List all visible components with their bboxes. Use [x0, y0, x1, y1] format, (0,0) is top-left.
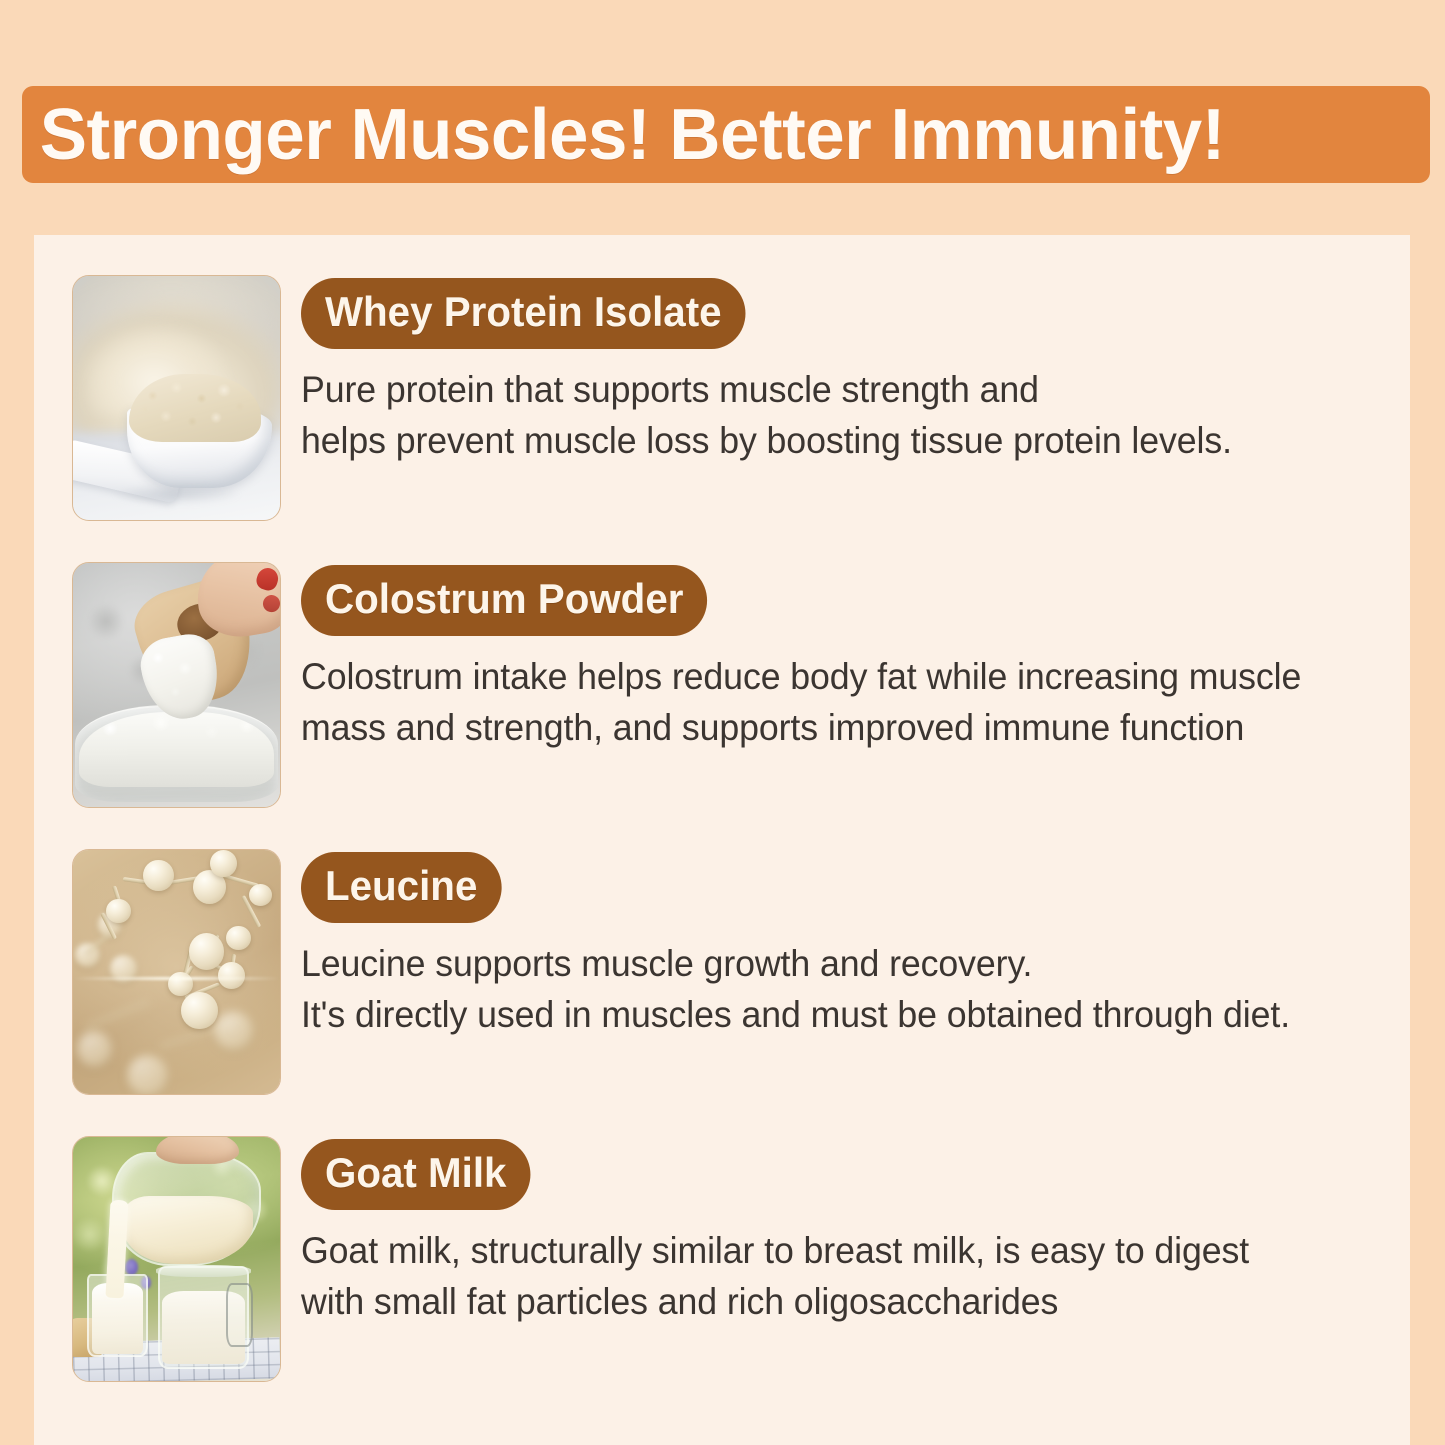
ingredient-title-pill: Leucine [301, 852, 501, 923]
molecule-atom [127, 1055, 168, 1094]
whey-protein-powder-scoop-photo [73, 276, 280, 520]
hand [156, 1137, 239, 1164]
thumbnail-goat-milk [72, 1136, 281, 1382]
jar-lip [156, 1265, 251, 1277]
thumbnail-colostrum-powder [72, 562, 281, 808]
ingredient-row-goat-milk: Goat Milk Goat milk, structurally simila… [34, 1136, 1410, 1382]
ingredient-text-goat-milk: Goat Milk Goat milk, structurally simila… [301, 1136, 1410, 1327]
goat-milk-pouring-pitcher-photo [73, 1137, 280, 1381]
ingredient-row-whey-protein-isolate: Whey Protein Isolate Pure protein that s… [34, 275, 1410, 521]
ingredient-text-leucine: Leucine Leucine supports muscle growth a… [301, 849, 1410, 1040]
bowl-powder [79, 712, 274, 788]
page-title: Stronger Muscles! Better Immunity! [22, 99, 1225, 171]
molecule-atom [249, 884, 272, 906]
ingredient-text-whey-protein-isolate: Whey Protein Isolate Pure protein that s… [301, 275, 1410, 466]
lens-flare [73, 977, 280, 980]
molecule-atom-highlight [181, 992, 218, 1030]
ingredient-text-colostrum-powder: Colostrum Powder Colostrum intake helps … [301, 562, 1410, 753]
ingredient-description: Goat milk, structurally similar to breas… [301, 1226, 1371, 1327]
header-banner: Stronger Muscles! Better Immunity! [22, 86, 1430, 183]
scoop-shadow [90, 481, 264, 508]
ingredient-row-colostrum-powder: Colostrum Powder Colostrum intake helps … [34, 562, 1410, 808]
molecule-atom [210, 850, 237, 877]
thumbnail-leucine [72, 849, 281, 1095]
purple-flower [125, 1259, 138, 1275]
ingredient-row-leucine: Leucine Leucine supports muscle growth a… [34, 849, 1410, 1095]
ingredient-description: Colostrum intake helps reduce body fat w… [301, 652, 1371, 753]
molecule-atom [218, 962, 245, 989]
ingredients-panel: Whey Protein Isolate Pure protein that s… [34, 235, 1410, 1445]
ingredient-title-pill: Whey Protein Isolate [301, 278, 746, 349]
leucine-molecule-structure-photo [73, 850, 280, 1094]
colostrum-powder-wooden-scoop-photo [73, 563, 280, 807]
molecule-atom [226, 926, 251, 950]
thumbnail-whey-protein-isolate [72, 275, 281, 521]
jar-clasp [226, 1283, 253, 1346]
molecule-atom [189, 933, 224, 970]
ingredient-description: Pure protein that supports muscle streng… [301, 365, 1371, 466]
molecule-atom [106, 899, 131, 923]
ingredient-title-pill: Goat Milk [301, 1139, 530, 1210]
ingredient-description: Leucine supports muscle growth and recov… [301, 939, 1371, 1040]
ingredient-title-pill: Colostrum Powder [301, 565, 707, 636]
molecule-atom [214, 1011, 253, 1050]
